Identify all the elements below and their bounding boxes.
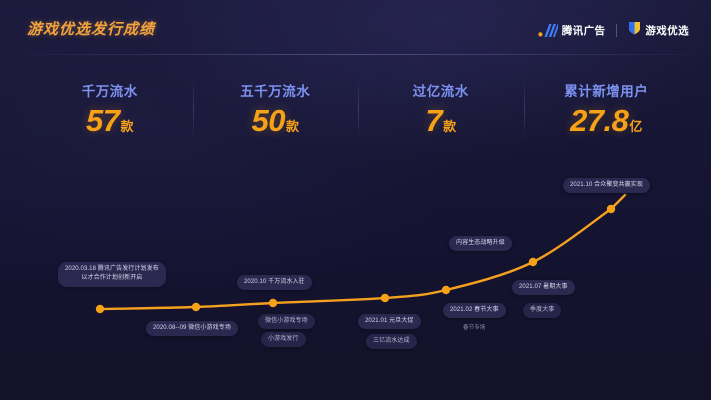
chart-annotation-chip: 2021.07 暑期大事 xyxy=(512,280,575,295)
stat-card-qianwan: 千万流水 57 款 xyxy=(27,64,193,154)
brand-bar: 腾讯广告 游戏优选 xyxy=(538,21,689,40)
growth-line-chart: 2020.03.18 腾讯广告发行计划发布 以才合作计划创新开启2020.08-… xyxy=(0,155,711,400)
stat-label: 过亿流水 xyxy=(413,80,469,100)
brand-divider xyxy=(616,24,617,37)
stat-number: 50 xyxy=(252,103,285,139)
stat-value: 57 款 xyxy=(86,103,134,139)
stat-value: 50 款 xyxy=(252,103,300,139)
stat-unit: 款 xyxy=(286,116,299,135)
stat-unit: 款 xyxy=(443,116,456,135)
data-point-marker[interactable] xyxy=(192,303,200,311)
stat-label: 累计新增用户 xyxy=(564,80,648,100)
page-title: 游戏优选发行成绩 xyxy=(27,18,155,39)
header: 游戏优选发行成绩 腾讯广告 xyxy=(0,0,711,57)
stat-unit: 款 xyxy=(120,116,133,135)
chart-annotation-chip: 微信小游戏专场 xyxy=(258,314,315,329)
data-point-marker[interactable] xyxy=(96,305,104,313)
chart-annotation-chip: 2021.10 合众聚变共赢实现 xyxy=(563,178,650,193)
game-select-shield-logo-icon xyxy=(628,21,641,40)
stat-value: 7 款 xyxy=(425,103,456,139)
chart-annotation-chip: 2021.02 春节大事 xyxy=(443,303,506,318)
data-point-marker[interactable] xyxy=(381,294,389,302)
stat-card-wuqianwan: 五千万流水 50 款 xyxy=(193,64,359,154)
chart-annotation-chip: 小游戏发行 xyxy=(261,332,306,347)
stat-number: 57 xyxy=(86,103,119,139)
stat-value: 27.8 亿 xyxy=(570,103,642,139)
chart-annotation-chip: 2021.01 元旦大促 xyxy=(358,314,421,329)
chart-annotation-chip: 2020.08--09 微信小游戏专场 xyxy=(146,321,238,336)
chart-annotation-chip: 季度大事 xyxy=(523,303,561,318)
stat-card-guoyi: 过亿流水 7 款 xyxy=(358,64,524,154)
data-point-marker[interactable] xyxy=(529,258,537,266)
stat-card-xinzeng-yonghu: 累计新增用户 27.8 亿 xyxy=(524,64,690,154)
slide-root: 游戏优选发行成绩 腾讯广告 xyxy=(0,0,711,400)
chart-annotation-chip: 2020.10 千万流水入驻 xyxy=(237,275,312,290)
stat-number: 27.8 xyxy=(570,103,628,139)
chart-annotation-chip: 2020.03.18 腾讯广告发行计划发布 以才合作计划创新开启 xyxy=(58,262,166,287)
brand-game-select: 游戏优选 xyxy=(628,21,689,40)
stats-row: 千万流水 57 款 五千万流水 50 款 过亿流水 7 款 累计新增用户 27.… xyxy=(27,64,689,154)
header-divider xyxy=(27,54,689,55)
data-point-marker[interactable] xyxy=(442,286,450,294)
stat-label: 千万流水 xyxy=(82,80,138,100)
chart-annotation-chip: 三亿流水达成 xyxy=(366,334,417,349)
stat-number: 7 xyxy=(425,103,442,139)
stat-unit: 亿 xyxy=(629,116,642,135)
data-point-marker[interactable] xyxy=(607,205,615,213)
data-point-marker[interactable] xyxy=(269,299,277,307)
tencent-ads-logo-icon xyxy=(538,24,558,37)
brand-game-select-label: 游戏优选 xyxy=(645,23,689,38)
chart-annotation-chip: 内容生态战略升级 xyxy=(449,236,512,251)
brand-tencent-ads-label: 腾讯广告 xyxy=(562,23,606,38)
stat-label: 五千万流水 xyxy=(240,80,310,100)
brand-tencent-ads: 腾讯广告 xyxy=(538,23,606,38)
chart-annotation-chip: 春节专场 xyxy=(460,323,488,334)
